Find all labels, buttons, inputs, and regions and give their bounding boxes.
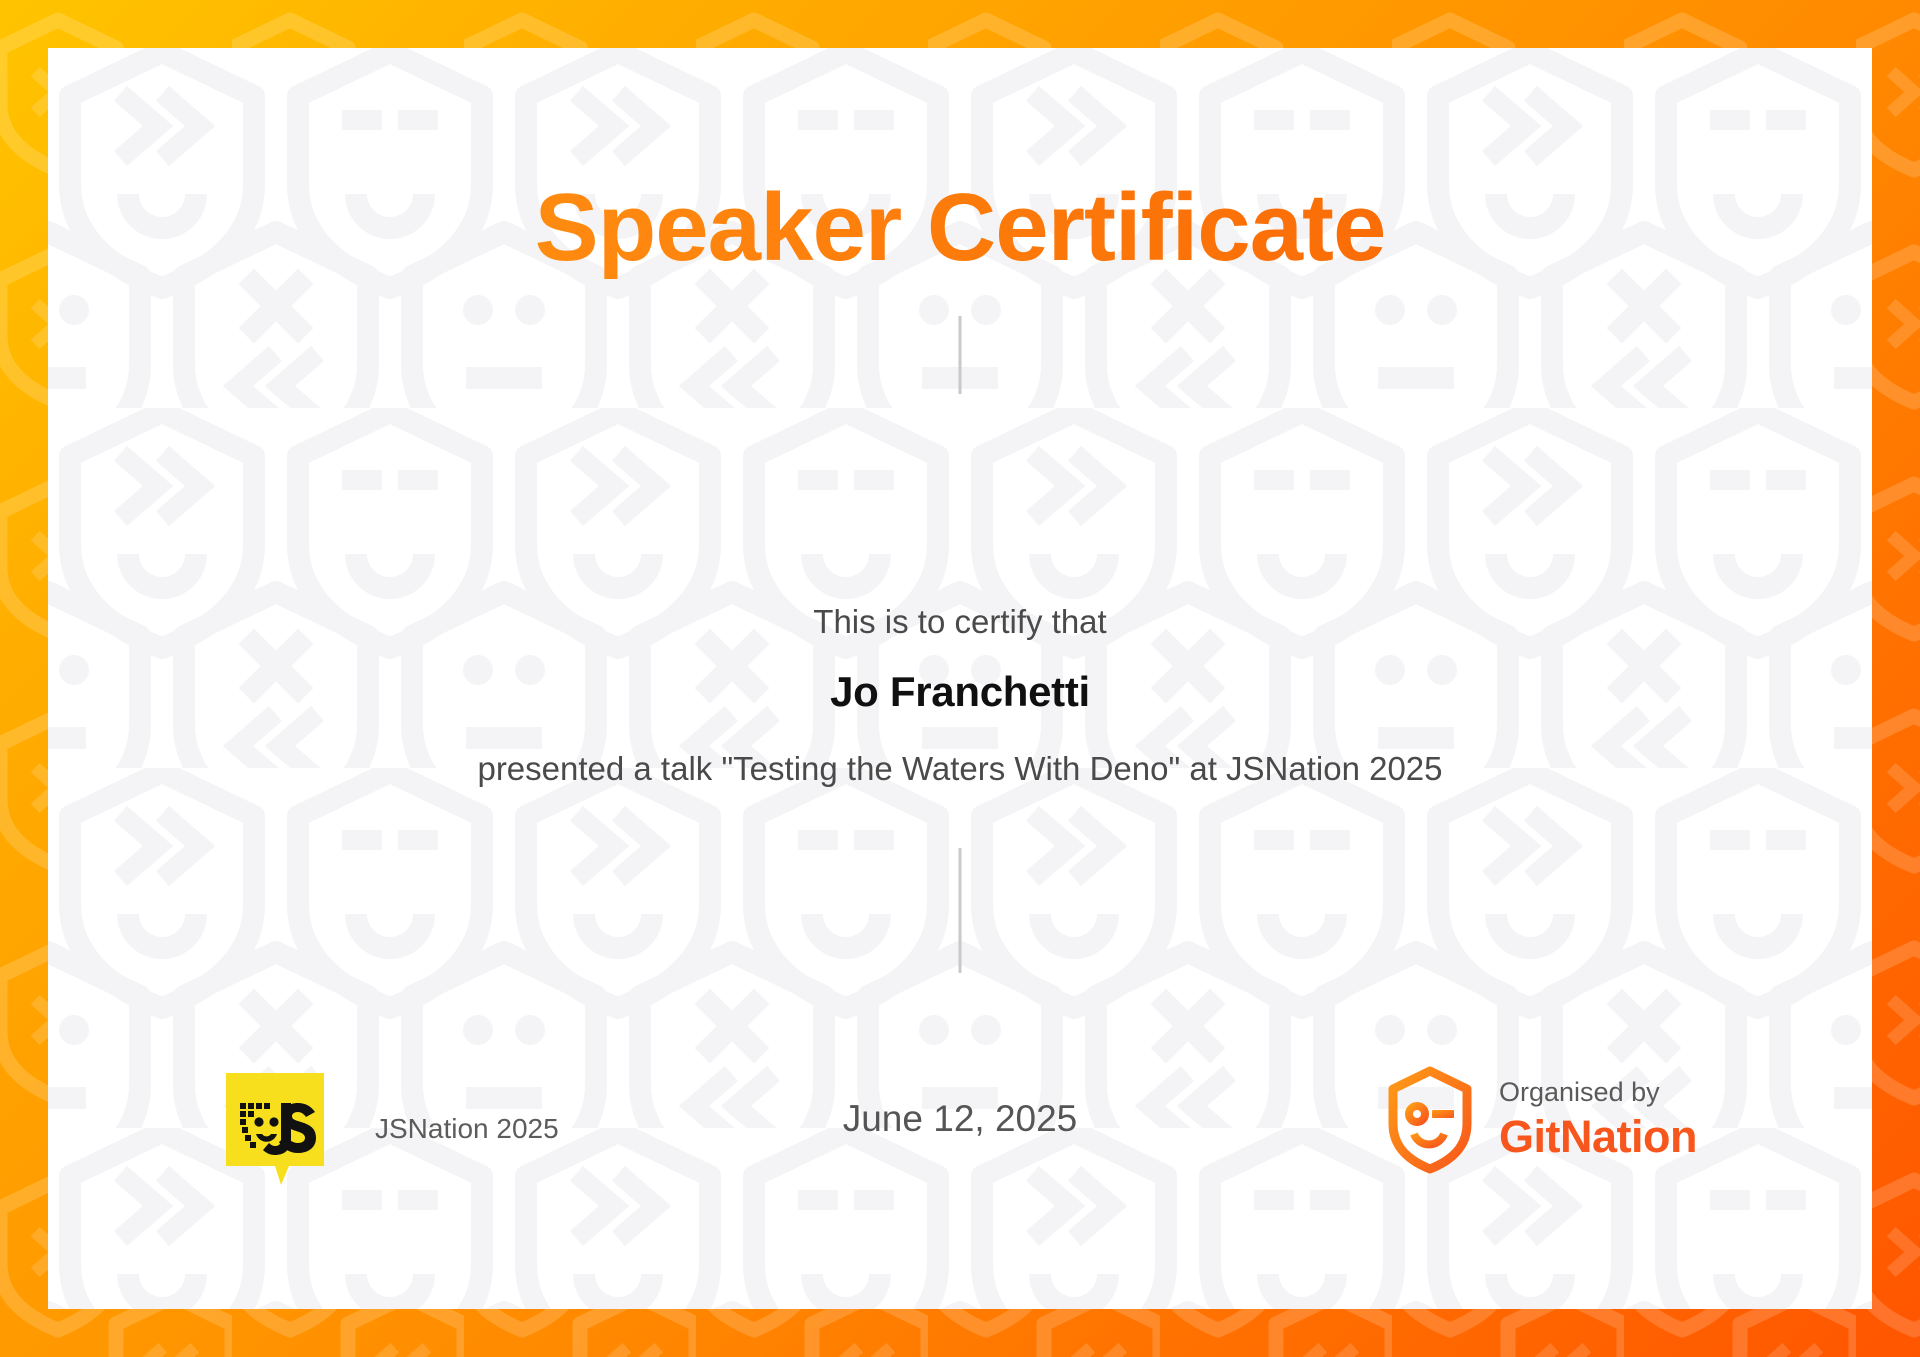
certificate-footer: JSNation 2025 June 12, 2025 bbox=[48, 1058, 1872, 1228]
jsnation-js-smiley-logo-icon bbox=[223, 1070, 327, 1188]
organiser-block: Organised by GitNation bbox=[1387, 1066, 1697, 1174]
certify-statement: This is to certify that bbox=[48, 603, 1872, 641]
certificate-date: June 12, 2025 bbox=[843, 1098, 1078, 1140]
gitnation-shield-face-icon bbox=[1387, 1066, 1473, 1174]
vertical-divider-top bbox=[959, 316, 962, 394]
event-name: JSNation 2025 bbox=[375, 1113, 559, 1145]
recipient-name: Jo Franchetti bbox=[48, 668, 1872, 716]
certificate-frame: Speaker Certificate This is to certify t… bbox=[0, 0, 1920, 1357]
page-title: Speaker Certificate bbox=[48, 178, 1872, 279]
organised-by-label: Organised by bbox=[1499, 1078, 1697, 1108]
organiser-text: Organised by GitNation bbox=[1499, 1078, 1697, 1161]
vertical-divider-bottom bbox=[959, 848, 962, 973]
certificate-card: Speaker Certificate This is to certify t… bbox=[48, 48, 1872, 1309]
event-block: JSNation 2025 bbox=[223, 1070, 559, 1188]
talk-statement: presented a talk "Testing the Waters Wit… bbox=[48, 750, 1872, 788]
organiser-name: GitNation bbox=[1499, 1112, 1697, 1162]
